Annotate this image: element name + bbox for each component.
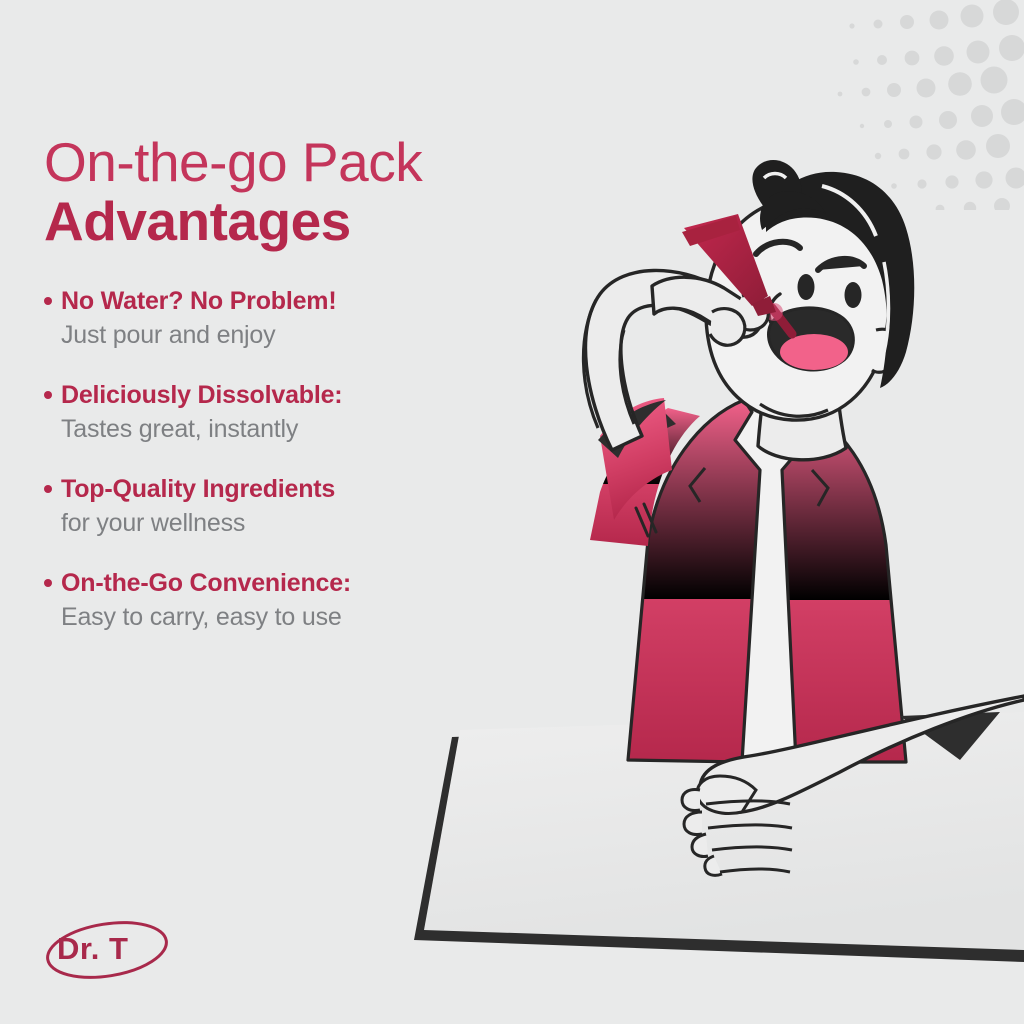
mans-head (706, 160, 914, 420)
bullet-title: On-the-Go Convenience: (61, 569, 351, 598)
page-title-line1: On-the-go Pack (44, 134, 544, 191)
brand-logo: Dr. T (40, 914, 175, 986)
page-title-line2: Advantages (44, 191, 544, 253)
bullet-dot-icon (44, 297, 52, 305)
advantages-list: No Water? No Problem! Just pour and enjo… (44, 287, 544, 632)
text-content-column: On-the-go Pack Advantages No Water? No P… (44, 134, 544, 663)
bullet-dot-icon (44, 391, 52, 399)
bullet-dot-icon (44, 485, 52, 493)
list-item: On-the-Go Convenience: Easy to carry, ea… (44, 569, 544, 632)
bullet-subtitle: Easy to carry, easy to use (61, 603, 544, 632)
logo-text: Dr. T (57, 931, 128, 967)
bullet-subtitle: Tastes great, instantly (61, 415, 544, 444)
bullet-title: Deliciously Dissolvable: (61, 381, 342, 410)
bullet-dot-icon (44, 579, 52, 587)
poster-canvas: On-the-go Pack Advantages No Water? No P… (0, 0, 1024, 1024)
bullet-title: Top-Quality Ingredients (61, 475, 335, 504)
bullet-subtitle: Just pour and enjoy (61, 321, 544, 350)
list-item: Deliciously Dissolvable: Tastes great, i… (44, 381, 544, 444)
list-item: Top-Quality Ingredients for your wellnes… (44, 475, 544, 538)
list-item: No Water? No Problem! Just pour and enjo… (44, 287, 544, 350)
bullet-title: No Water? No Problem! (61, 287, 336, 316)
bullet-subtitle: for your wellness (61, 509, 544, 538)
